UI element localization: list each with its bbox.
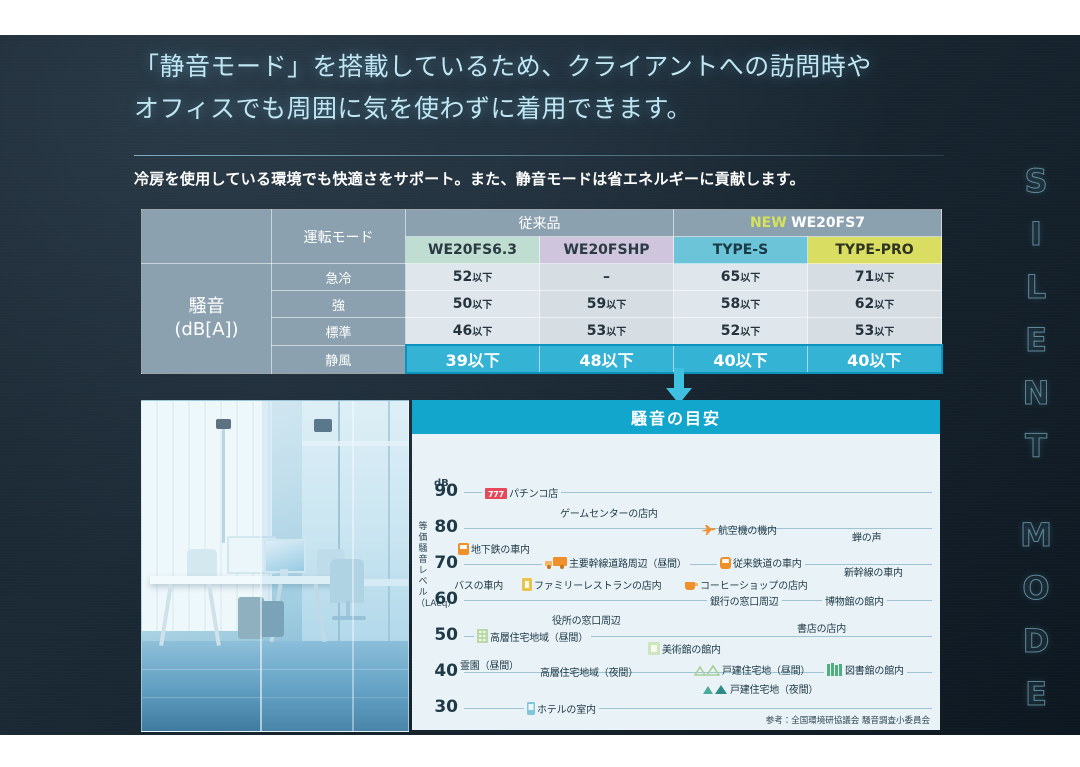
- cell-hyojun-we20fshp: 53以下: [540, 318, 674, 346]
- chart-item-game-center: ゲームセンターの店内: [560, 505, 658, 520]
- product-col-type-pro: TYPE-PRO: [808, 237, 942, 264]
- chart-item-city-office: 役所の窓口周辺: [552, 612, 621, 627]
- table-row-header: 騒音 (dB[A]): [142, 264, 272, 374]
- brand-letter-e: E: [1025, 324, 1047, 356]
- new-badge: NEW: [750, 215, 787, 231]
- office-photo: [141, 400, 409, 732]
- truck-icon: [545, 557, 567, 572]
- y-tick-40: 40: [432, 661, 458, 681]
- books-icon: [827, 663, 843, 679]
- chart-item-cicada: 蝉の声: [852, 529, 881, 544]
- cell-kyo-type-pro: 62以下: [808, 291, 942, 318]
- brand-letter-l: L: [1026, 271, 1046, 303]
- chart-item-hotel-room: ホテルの室内: [524, 701, 599, 718]
- y-tick-80: 80: [432, 517, 458, 537]
- chart-citation: 参考：全国環境研協議会 騒音調査小委員会: [766, 714, 930, 726]
- phone-icon: [527, 702, 535, 718]
- brand-letter-o: O: [1022, 572, 1049, 604]
- brand-letter-n: N: [1023, 377, 1050, 409]
- mode-label-hyojun: 標準: [272, 318, 406, 346]
- cell-hyojun-type-s: 52以下: [674, 318, 808, 346]
- cell-seifu-type-pro: 40以下: [808, 345, 942, 373]
- chart-item-main-road: 主要幹線道路周辺（昼間）: [542, 555, 690, 572]
- silent-mode-vertical-text: S I L E N T M O D E: [1008, 165, 1064, 710]
- airplane-icon: [700, 524, 716, 539]
- mode-label-kyo: 強: [272, 291, 406, 318]
- brand-letter-m: M: [1020, 519, 1052, 551]
- chart-item-family-restaurant: ファミリーレストランの店内: [522, 577, 661, 594]
- noise-comparison-table: 運転モード 従来品 NEW WE20FS7 WE20FS6.3 WE20FSHP…: [141, 209, 943, 374]
- chart-item-art-museum: 美術館の館内: [648, 641, 721, 658]
- chart-y-axis-label: 等価騒音レベル（LAeq）: [416, 522, 430, 610]
- noise-reference-chart: 騒音の目安 等価騒音レベル（LAeq） dB 90 80 70 60 50 40…: [412, 400, 940, 730]
- restaurant-icon: [522, 578, 532, 594]
- cell-hyojun-type-pro: 53以下: [808, 318, 942, 346]
- chart-item-detached-day: 戸建住宅地（昼間）: [694, 662, 810, 679]
- slide-background: 「静音モード」を搭載しているため、クライアントへの訪問時や オフィスでも周囲に気…: [0, 35, 1080, 735]
- cell-kyurei-we20fs63: 52以下: [406, 264, 540, 291]
- new-model-name: WE20FS7: [791, 215, 865, 231]
- row-header-line-2: (dB[A]): [142, 318, 271, 341]
- house-light-icon: [694, 664, 720, 679]
- product-col-we20fshp: WE20FSHP: [540, 237, 674, 264]
- table-corner-blank: [142, 210, 272, 264]
- slot-777-icon: 777: [485, 488, 507, 502]
- chart-item-bank-counter: 銀行の窓口周辺: [707, 593, 782, 608]
- cell-hyojun-we20fs63: 46以下: [406, 318, 540, 346]
- row-header-line-1: 騒音: [142, 295, 271, 318]
- subway-icon: [458, 543, 469, 558]
- headline-divider: [134, 155, 944, 156]
- chart-item-subway: 地下鉄の車内: [458, 541, 530, 558]
- mode-label-seifu: 静風: [272, 345, 406, 373]
- cell-kyurei-type-s: 65以下: [674, 264, 808, 291]
- cell-kyurei-we20fshp: –: [540, 264, 674, 291]
- product-col-type-s: TYPE-S: [674, 237, 808, 264]
- svg-text:777: 777: [488, 490, 504, 499]
- coffee-icon: [684, 580, 698, 594]
- train-icon: [720, 557, 731, 572]
- cell-seifu-we20fshp: 48以下: [540, 345, 674, 373]
- chart-item-museum-hall: 博物館の館内: [822, 593, 887, 608]
- headline: 「静音モード」を搭載しているため、クライアントへの訪問時や オフィスでも周囲に気…: [134, 46, 954, 130]
- chart-item-coffee-shop: コーヒーショップの店内: [684, 577, 808, 594]
- y-tick-30: 30: [432, 697, 458, 717]
- building-icon: [477, 629, 488, 646]
- chart-item-library: 図書館の館内: [824, 662, 907, 679]
- chart-item-airplane: 航空機の機内: [700, 522, 777, 539]
- brand-letter-t: T: [1025, 430, 1047, 462]
- cell-seifu-we20fs63: 39以下: [406, 345, 540, 373]
- mode-label-kyurei: 急冷: [272, 264, 406, 291]
- chart-item-highrise-day: 高層住宅地域（昼間）: [474, 629, 591, 646]
- house-dark-icon: [702, 683, 728, 698]
- brand-letter-s: S: [1024, 165, 1047, 197]
- subheadline: 冷房を使用している環境でも快適さをサポート。また、静音モードは省エネルギーに貢献…: [134, 168, 964, 189]
- y-tick-90: 90: [432, 481, 458, 501]
- chart-item-bookstore: 書店の店内: [797, 620, 846, 635]
- table-group-header-row: 運転モード 従来品 NEW WE20FS7: [142, 210, 942, 237]
- y-tick-60: 60: [432, 589, 458, 609]
- table-group-new: NEW WE20FS7: [674, 210, 942, 237]
- chart-item-shinkansen: 新幹線の車内: [844, 564, 903, 579]
- chart-item-highrise-night: 高層住宅地域（夜間）: [540, 664, 638, 679]
- cell-kyurei-type-pro: 71以下: [808, 264, 942, 291]
- chart-item-cemetery-day: 霊園（昼間）: [460, 657, 519, 672]
- y-tick-50: 50: [432, 625, 458, 645]
- brand-letter-d: D: [1023, 625, 1050, 657]
- table-group-conventional: 従来品: [406, 210, 674, 237]
- product-col-we20fs63: WE20FS6.3: [406, 237, 540, 264]
- table-mode-column-header: 運転モード: [272, 210, 406, 264]
- chart-item-conventional-rail: 従来鉄道の車内: [717, 555, 805, 572]
- brand-letter-i: I: [1030, 218, 1042, 250]
- cell-kyo-we20fs63: 50以下: [406, 291, 540, 318]
- headline-line-1: 「静音モード」を搭載しているため、クライアントへの訪問時や: [134, 46, 954, 88]
- cell-kyo-we20fshp: 59以下: [540, 291, 674, 318]
- table-row: 騒音 (dB[A]) 急冷 52以下 – 65以下 71以下: [142, 264, 942, 291]
- brand-letter-e2: E: [1025, 678, 1047, 710]
- cell-kyo-type-s: 58以下: [674, 291, 808, 318]
- chart-item-bus: バスの車内: [454, 577, 503, 592]
- chart-plot-area: 等価騒音レベル（LAeq） dB 90 80 70 60 50 40 30 77…: [412, 434, 940, 730]
- chart-title: 騒音の目安: [412, 400, 940, 434]
- chart-item-pachinko: 777 パチンコ店: [482, 485, 561, 502]
- headline-line-2: オフィスでも周囲に気を使わずに着用できます。: [134, 88, 954, 130]
- down-arrow-icon: [662, 368, 696, 404]
- chart-item-detached-night: 戸建住宅地（夜間）: [702, 681, 818, 698]
- museum-icon: [648, 642, 660, 658]
- y-tick-70: 70: [432, 553, 458, 573]
